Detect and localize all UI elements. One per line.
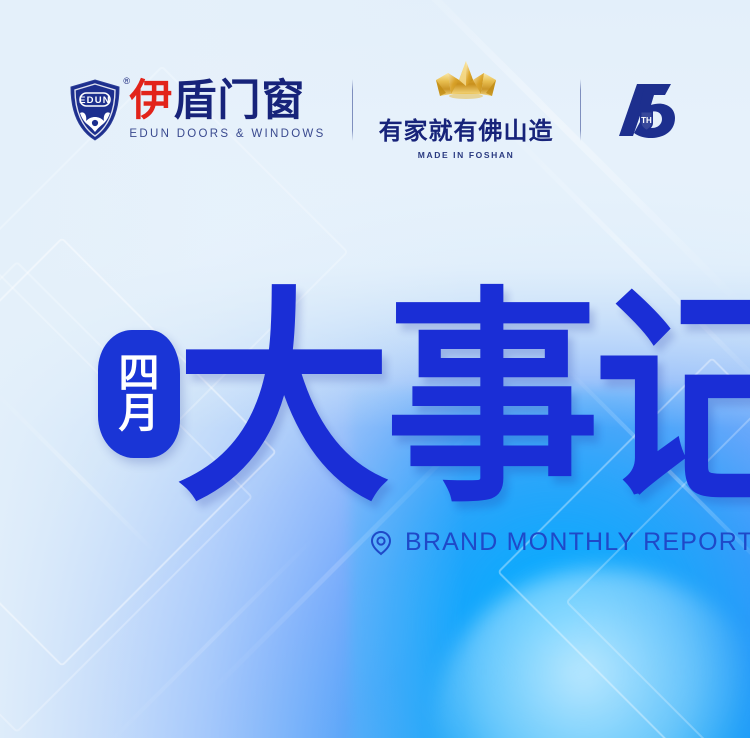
subtitle-text: BRAND MONTHLY REPORT	[405, 528, 750, 557]
endorsement-lockup[interactable]: 有家就有佛山造 MADE IN FOSHAN	[379, 60, 554, 160]
svg-text:EDUN: EDUN	[80, 95, 112, 106]
title-zone: 四 月 大事记	[0, 268, 750, 568]
month-badge-char-2: 月	[119, 394, 160, 434]
month-badge: 四 月	[98, 330, 180, 458]
brand-name-en: EDUN DOORS & WINDOWS	[129, 128, 325, 140]
brand-name-cn: 伊盾门窗	[129, 80, 305, 123]
crown-icon	[424, 60, 508, 109]
header-logo-bar: EDUN ® 伊盾门窗 EDUN DOORS & WINDOWS	[0, 68, 750, 152]
endorsement-slogan-cn: 有家就有佛山造	[379, 111, 554, 146]
brand-name-cn-accent: 伊	[129, 76, 173, 126]
page-title: 大事记	[176, 268, 676, 554]
endorsement-slogan-en: MADE IN FOSHAN	[418, 150, 515, 160]
subtitle-row: BRAND MONTHLY REPORT	[368, 528, 750, 557]
anniversary-badge[interactable]: TH	[607, 78, 683, 142]
brand-name-cn-rest: 盾门窗	[173, 76, 305, 126]
header-divider-2	[580, 79, 581, 141]
header-divider-1	[352, 79, 353, 141]
location-pin-icon	[368, 530, 394, 556]
brand-lockup[interactable]: EDUN ® 伊盾门窗 EDUN DOORS & WINDOWS	[67, 78, 325, 142]
brand-monthly-report-poster: EDUN ® 伊盾门窗 EDUN DOORS & WINDOWS	[0, 0, 750, 738]
brand-name-block: ® 伊盾门窗 EDUN DOORS & WINDOWS	[129, 80, 325, 140]
registered-mark: ®	[123, 76, 130, 86]
svg-text:TH: TH	[641, 116, 652, 125]
edun-shield-icon: EDUN	[67, 78, 123, 142]
